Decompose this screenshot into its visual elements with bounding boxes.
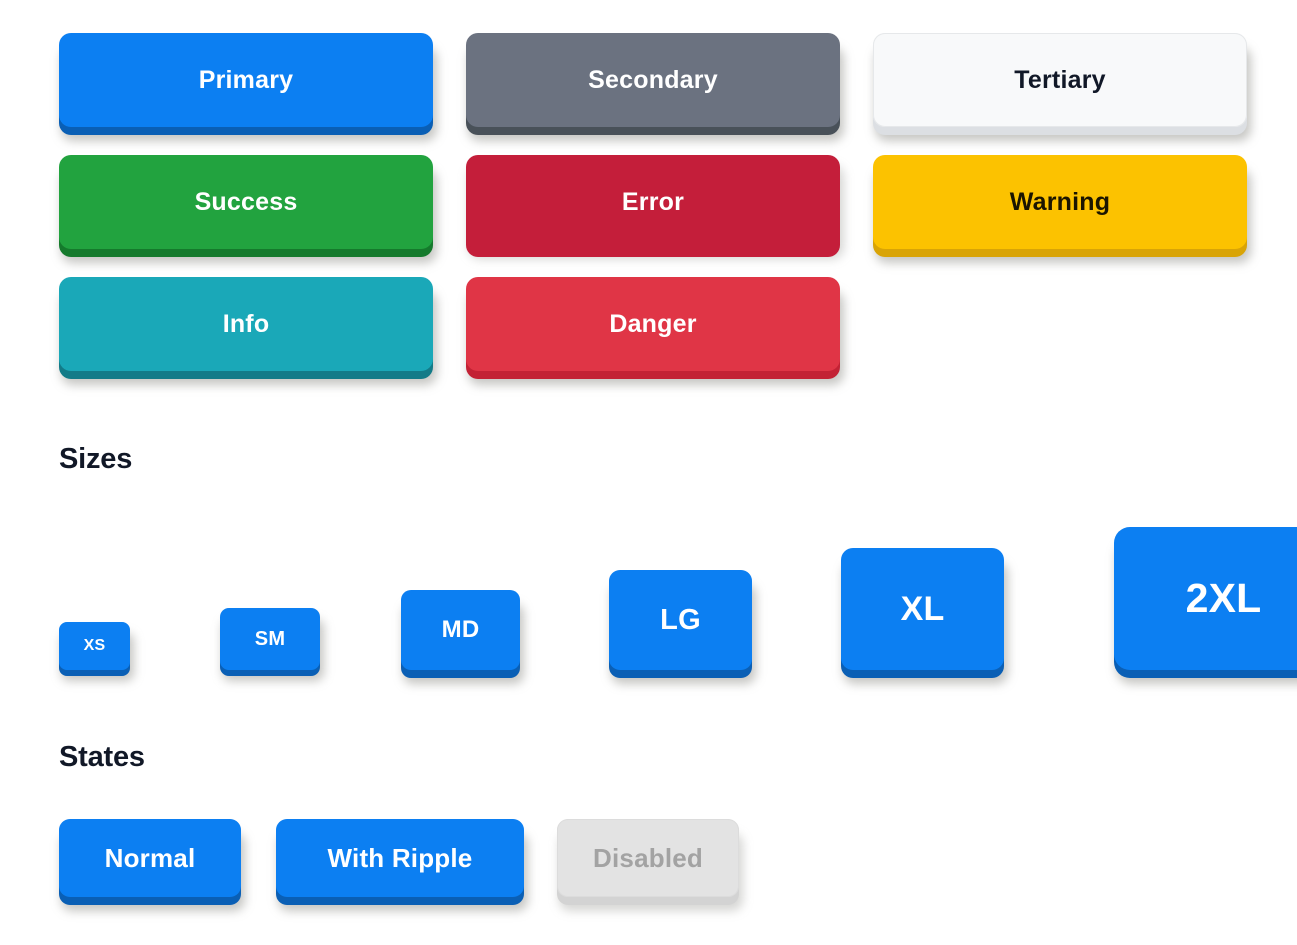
- size-button-xl[interactable]: XL: [841, 548, 1004, 670]
- variant-cell-secondary: Secondary: [466, 33, 840, 127]
- variant-cell-primary: Primary: [59, 33, 433, 127]
- danger-button[interactable]: Danger: [466, 277, 840, 371]
- button-showcase-page: Primary Secondary Tertiary Success Error: [0, 0, 1297, 945]
- state-button-with-ripple-label: With Ripple: [276, 819, 524, 897]
- variant-cell-success: Success: [59, 155, 433, 249]
- error-button-label: Error: [466, 155, 840, 249]
- size-button-sm-label: SM: [220, 608, 320, 670]
- variant-button-grid: Primary Secondary Tertiary Success Error: [59, 33, 1249, 371]
- sizes-section-title: Sizes: [59, 443, 132, 476]
- size-button-sm[interactable]: SM: [220, 608, 320, 670]
- size-button-md-label: MD: [401, 590, 520, 670]
- size-slot-sm: SM: [220, 520, 320, 670]
- size-slot-md: MD: [401, 520, 520, 670]
- sizes-button-row: XS SM MD LG XL 2XL: [59, 520, 1059, 670]
- states-section-title: States: [59, 741, 145, 774]
- size-slot-lg: LG: [609, 520, 752, 670]
- warning-button[interactable]: Warning: [873, 155, 1247, 249]
- variant-cell-empty: [873, 277, 1247, 371]
- state-button-normal-label: Normal: [59, 819, 241, 897]
- size-slot-xs: XS: [59, 520, 130, 670]
- variant-cell-info: Info: [59, 277, 433, 371]
- state-button-normal[interactable]: Normal: [59, 819, 241, 897]
- size-button-lg-label: LG: [609, 570, 752, 670]
- success-button[interactable]: Success: [59, 155, 433, 249]
- size-button-md[interactable]: MD: [401, 590, 520, 670]
- size-button-2xl-label: 2XL: [1114, 527, 1297, 670]
- size-button-2xl[interactable]: 2XL: [1114, 527, 1297, 670]
- info-button[interactable]: Info: [59, 277, 433, 371]
- size-button-lg[interactable]: LG: [609, 570, 752, 670]
- size-button-xs[interactable]: XS: [59, 622, 130, 670]
- secondary-button-label: Secondary: [466, 33, 840, 127]
- error-button[interactable]: Error: [466, 155, 840, 249]
- info-button-label: Info: [59, 277, 433, 371]
- variant-cell-danger: Danger: [466, 277, 840, 371]
- state-button-disabled: Disabled: [557, 819, 739, 897]
- warning-button-label: Warning: [873, 155, 1247, 249]
- success-button-label: Success: [59, 155, 433, 249]
- secondary-button[interactable]: Secondary: [466, 33, 840, 127]
- variant-cell-warning: Warning: [873, 155, 1247, 249]
- state-button-disabled-label: Disabled: [557, 819, 739, 897]
- variant-cell-error: Error: [466, 155, 840, 249]
- size-button-xs-label: XS: [59, 622, 130, 670]
- size-slot-2xl: 2XL: [1114, 520, 1297, 670]
- tertiary-button-label: Tertiary: [873, 33, 1247, 127]
- states-button-row: Normal With Ripple Disabled: [59, 819, 739, 897]
- danger-button-label: Danger: [466, 277, 840, 371]
- variant-cell-tertiary: Tertiary: [873, 33, 1247, 127]
- primary-button-label: Primary: [59, 33, 433, 127]
- size-button-xl-label: XL: [841, 548, 1004, 670]
- size-slot-xl: XL: [841, 520, 1004, 670]
- primary-button[interactable]: Primary: [59, 33, 433, 127]
- tertiary-button[interactable]: Tertiary: [873, 33, 1247, 127]
- state-button-with-ripple[interactable]: With Ripple: [276, 819, 524, 897]
